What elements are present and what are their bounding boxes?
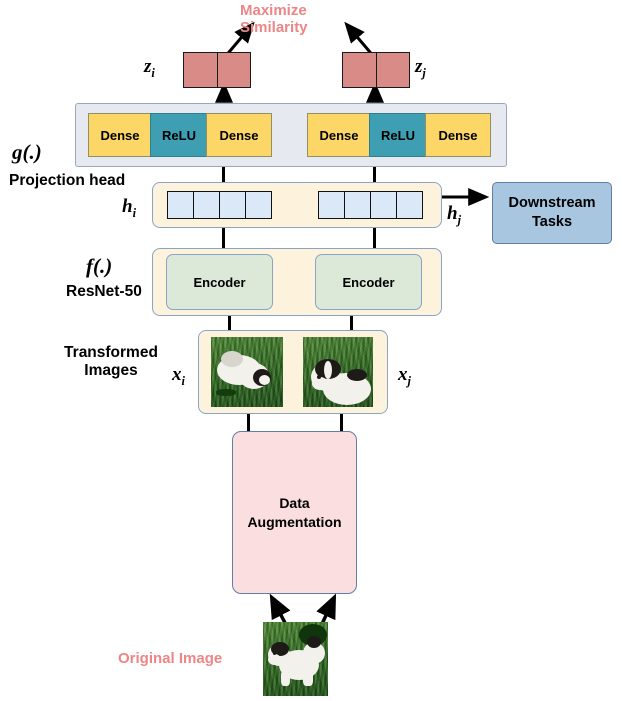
z-i-subscript: i: [151, 66, 154, 80]
projection-left-dense-1[interactable]: Dense: [88, 113, 152, 157]
x-j-subscript: j: [408, 374, 411, 388]
original-image: [263, 622, 328, 696]
projection-left-dense-1-label: Dense: [100, 128, 139, 143]
dog-muzzle-white: [312, 377, 328, 390]
h-i-label: hi: [122, 196, 136, 221]
encoder-right[interactable]: Encoder: [315, 254, 422, 310]
projection-left-dense-2-label: Dense: [219, 128, 258, 143]
original-image-label-text: Original Image: [118, 650, 222, 667]
z-j-subscript: j: [422, 66, 425, 80]
z-j-cell-1: [343, 53, 376, 87]
h-j-symbol: h: [447, 203, 458, 224]
encoder-function-label: f(.): [86, 254, 112, 279]
transformed-image-xj: [303, 337, 373, 407]
dog-back-patch: [347, 369, 367, 381]
z-i-vector: [183, 52, 251, 88]
x-i-subscript: i: [182, 374, 185, 388]
projection-head-name: Projection head: [9, 172, 125, 190]
dog-eye: [317, 375, 321, 379]
projection-left-dense-2[interactable]: Dense: [206, 113, 272, 157]
dog-muzzle-white: [268, 654, 281, 665]
x-i-symbol: x: [172, 364, 182, 385]
dog-fur-shadow: [221, 351, 243, 367]
projection-right-dense-1-label: Dense: [319, 128, 358, 143]
h-j-vector: [318, 191, 423, 219]
projection-left-relu[interactable]: ReLU: [150, 113, 208, 157]
data-augmentation-line-2: Augmentation: [247, 513, 341, 532]
downstream-tasks-line-1: Downstream: [508, 194, 595, 213]
z-j-vector: [342, 52, 410, 88]
projection-right-relu[interactable]: ReLU: [369, 113, 427, 157]
projection-right-relu-label: ReLU: [381, 128, 415, 143]
x-i-label: xi: [172, 364, 185, 389]
z-i-label: zi: [144, 56, 155, 81]
downstream-tasks-line-2: Tasks: [532, 213, 572, 232]
h-j-cell-1: [319, 192, 344, 218]
dog-foreground-leaf: [216, 389, 236, 396]
h-i-cell-2: [193, 192, 219, 218]
encoder-name-text: ResNet-50: [66, 283, 142, 300]
encoder-left-label: Encoder: [193, 275, 245, 290]
data-augmentation-box[interactable]: Data Augmentation: [232, 431, 357, 594]
projection-right-dense-1[interactable]: Dense: [307, 113, 371, 157]
h-j-label: hj: [447, 203, 461, 228]
maximize-similarity-label: Maximize Similarity: [240, 2, 308, 37]
original-image-label: Original Image: [118, 650, 222, 667]
transformed-image-xi: [211, 337, 283, 407]
f-function-symbol: f(.): [86, 254, 112, 278]
dog-blaze-white: [324, 361, 332, 379]
dog-leg-back: [303, 670, 313, 686]
encoder-right-label: Encoder: [342, 275, 394, 290]
g-function-symbol: g(.): [12, 140, 42, 164]
dog-muzzle-white: [259, 375, 270, 385]
z-i-cell-1: [184, 53, 217, 87]
h-i-cell-4: [245, 192, 271, 218]
transformed-images-caption: Transformed Images: [52, 344, 170, 380]
h-i-vector: [167, 191, 272, 219]
dog-eye: [273, 652, 276, 655]
x-j-label: xj: [398, 364, 411, 389]
downstream-tasks-box[interactable]: Downstream Tasks: [492, 182, 612, 244]
h-i-subscript: i: [133, 206, 136, 220]
dog-leg-front: [281, 670, 290, 686]
maximize-word: Maximize: [240, 2, 308, 19]
h-i-cell-3: [219, 192, 245, 218]
h-i-symbol: h: [122, 196, 133, 217]
x-j-symbol: x: [398, 364, 408, 385]
h-i-cell-1: [168, 192, 193, 218]
h-j-cell-2: [344, 192, 370, 218]
simclr-diagram: Maximize Similarity zi zj Dense ReLU Den…: [0, 0, 622, 701]
data-augmentation-line-1: Data: [279, 494, 309, 513]
h-j-cell-4: [396, 192, 422, 218]
z-i-cell-2: [217, 53, 251, 87]
encoder-name: ResNet-50: [66, 283, 142, 301]
transformed-images-line-1: Transformed: [52, 344, 170, 362]
projection-right-dense-2[interactable]: Dense: [425, 113, 491, 157]
h-j-subscript: j: [458, 213, 461, 227]
encoder-left[interactable]: Encoder: [166, 254, 273, 310]
projection-head-function-label: g(.): [12, 140, 42, 165]
z-j-cell-2: [376, 53, 410, 87]
projection-left-relu-label: ReLU: [162, 128, 196, 143]
projection-head-name-text: Projection head: [9, 172, 125, 189]
h-j-cell-3: [370, 192, 396, 218]
dog-tail-black-tip: [307, 636, 321, 648]
transformed-images-line-2: Images: [52, 362, 170, 380]
projection-right-dense-2-label: Dense: [438, 128, 477, 143]
similarity-word: Similarity: [240, 19, 308, 36]
z-j-label: zj: [415, 56, 426, 81]
